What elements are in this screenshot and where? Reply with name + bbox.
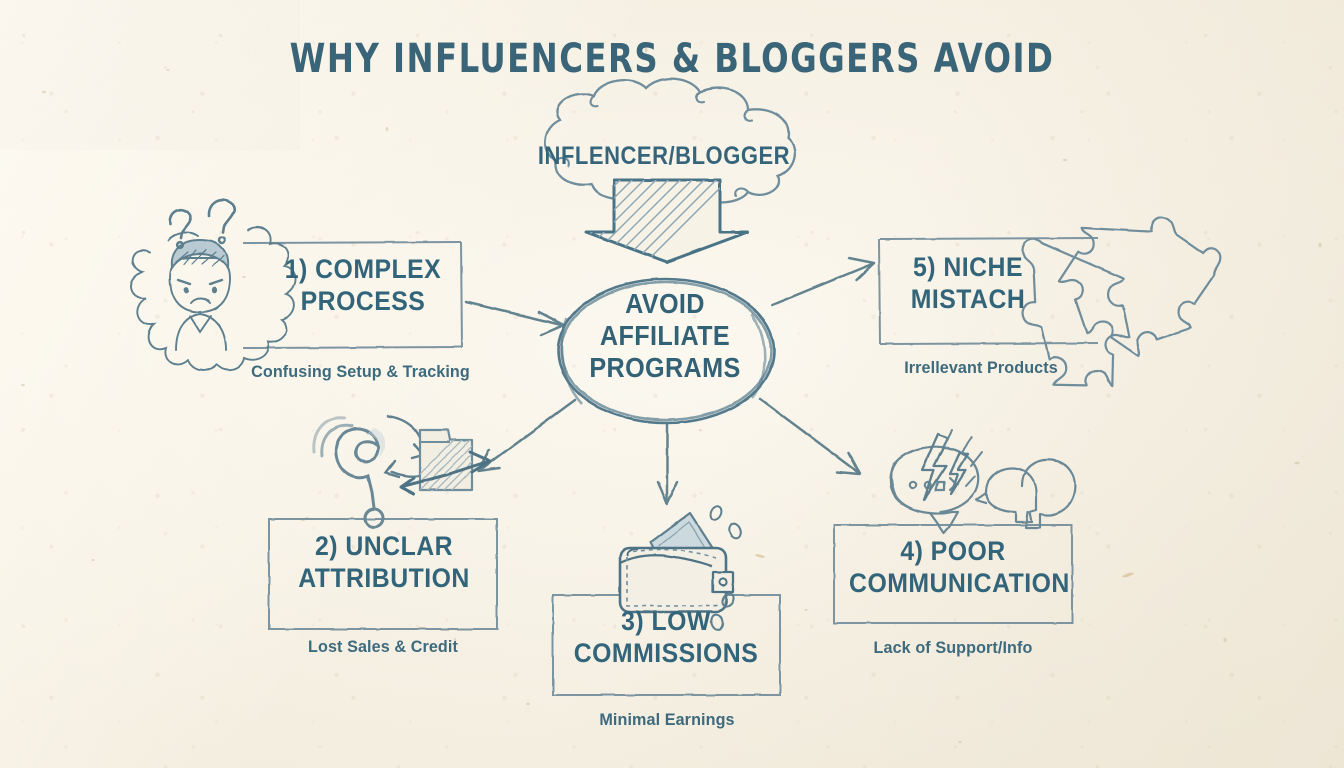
node4-title: 4) POOR COMMUNICATION: [849, 536, 1057, 600]
node4-graphics: [0, 0, 1344, 768]
page-title: WHY INFLUENCERS & BLOGGERS AVOID: [67, 36, 1277, 82]
hub-label: AVOID AFFILIATE PROGRAMS: [566, 288, 764, 384]
node4-caption: Lack of Support/Info: [844, 638, 1063, 658]
source-label: INFLENCER/BLOGGER: [530, 142, 798, 171]
speech-bubble-lightning-icon: [890, 430, 1074, 533]
diagram-canvas: 1) COMPLEX PROCESS Confusing Setup & Tra…: [0, 0, 1344, 768]
